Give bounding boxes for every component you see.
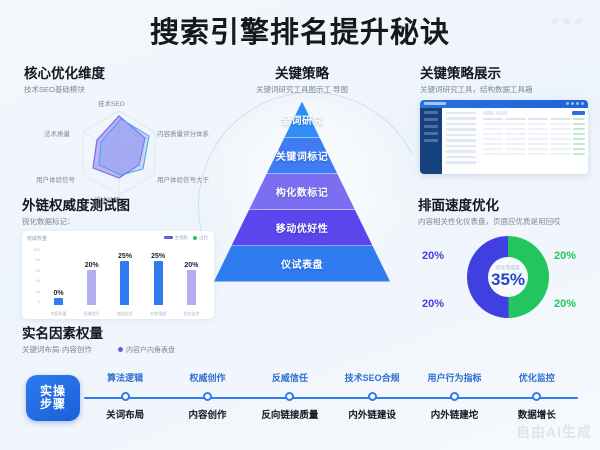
pyramid-level-label: 仪试表盘 [281, 256, 323, 271]
bar-rect[interactable] [154, 261, 163, 304]
pyramid-level-label: 关键词标记 [276, 148, 329, 163]
bar-ytick-1: 80 [36, 257, 40, 262]
donut-heading: 排面速度优化 [418, 198, 596, 214]
dashboard-toolbar[interactable] [483, 111, 585, 115]
steps-legend: 内容户内角表盘 [118, 345, 175, 355]
bar-ytick-4: 20 [36, 289, 40, 294]
pyramid-level-label: 构化数标记 [276, 184, 329, 199]
bar-rect[interactable] [87, 270, 96, 305]
pyramid-heading: 关键策略 [214, 66, 390, 82]
step-bottom-label: 关词布局 [106, 407, 144, 421]
legend-dot-icon [193, 236, 197, 240]
table-row [483, 128, 585, 131]
radar-subheading: 技术SEO基础模块 [24, 85, 214, 94]
steps-meta: 关键词布局·内容创作 内容户内角表盘 [22, 342, 582, 355]
dashboard-titlebar [420, 100, 588, 108]
bar-xtick: 权威信号 [77, 311, 107, 317]
donut-center: 优化完成度 35% [467, 236, 549, 318]
bar-column: 20% [77, 247, 107, 305]
pyramid-level[interactable]: 关键词标记 [214, 138, 390, 174]
bar-columns: 0%20%25%25%20% [42, 247, 208, 305]
dashboard-screenshot[interactable] [420, 100, 588, 174]
bar-ytick-0: 100 [33, 247, 40, 252]
step-dot-icon[interactable] [450, 392, 459, 401]
pyramid-level[interactable]: 移动优好性 [214, 210, 390, 246]
steps-timeline: 实操 步骤 算法逻辑关词布局权威创作内容创作反威信任反向链接质量技术SEO合规内… [22, 367, 582, 431]
step-top-label: 优化监控 [519, 367, 555, 389]
pyramid-section: 关键策略 关键词研究工具图示工 导图 全词研究关键词标记构化数标记移动优好性仪试… [214, 66, 390, 282]
step-dot-icon[interactable] [121, 392, 130, 401]
bar-legend-item-1: 占比 [193, 235, 208, 241]
step-dot-icon[interactable] [203, 392, 212, 401]
step-node[interactable]: 优化监控数据增长 [496, 367, 578, 431]
steps-section: 实名因素权量 关键词布局·内容创作 内容户内角表盘 实操 步骤 算法逻辑关词布局… [22, 326, 582, 431]
pyramid-level[interactable]: 仪试表盘 [214, 246, 390, 282]
dashboard-subheading: 关键词研究工具，结构数据工具箱 [420, 85, 590, 94]
step-dot-icon[interactable] [532, 392, 541, 401]
dashboard-sidebar[interactable] [420, 108, 442, 174]
step-bottom-label: 内外链建坨 [431, 407, 479, 421]
step-dot-icon[interactable] [368, 392, 377, 401]
bar-xtick: 链接信任 [110, 311, 140, 317]
step-bottom-label: 内外链建设 [348, 407, 396, 421]
bar-value-label: 20% [85, 262, 99, 269]
legend-swatch-icon [164, 236, 173, 240]
dashboard-body [420, 108, 588, 174]
dashboard-tree-panel[interactable] [442, 108, 480, 174]
bar-value-label: 0% [54, 290, 64, 297]
dashboard-table-header [483, 118, 585, 121]
bar-value-label: 25% [118, 253, 132, 260]
bar-column: 25% [110, 247, 140, 305]
bar-value-label: 20% [184, 262, 198, 269]
radar-heading: 核心优化维度 [24, 66, 214, 82]
table-row [483, 143, 585, 146]
dashboard-window-controls [566, 102, 584, 105]
step-dot-icon[interactable] [285, 392, 294, 401]
steps-badge-line2: 步骤 [40, 398, 66, 411]
donut-label-left-bottom: 20% [422, 298, 444, 310]
steps-heading: 实名因素权量 [22, 326, 582, 342]
steps-nodes: 算法逻辑关词布局权威创作内容创作反威信任反向链接质量技术SEO合规内外链建设用户… [84, 367, 578, 431]
donut-center-value: 35% [491, 271, 525, 288]
donut-label-left-top: 20% [422, 250, 444, 262]
step-top-label: 反威信任 [272, 367, 308, 389]
table-row [483, 153, 585, 156]
dashboard-section: 关键策略展示 关键词研究工具，结构数据工具箱 [420, 66, 590, 174]
donut-label-right-bottom: 20% [554, 298, 576, 310]
bar-column: 20% [176, 247, 206, 305]
steps-legend-dot-icon [118, 347, 123, 352]
dashboard-main-panel [480, 108, 588, 174]
donut-subheading: 内容相关性化仪表盘，页面应优质是用回哎 [418, 217, 596, 226]
page-title: 搜索引擎排名提升秘诀 [0, 18, 600, 50]
bar-rect[interactable] [54, 298, 63, 305]
pyramid-level-label: 移动优好性 [276, 220, 329, 235]
donut-label-right-top: 20% [554, 250, 576, 262]
step-bottom-label: 内容创作 [188, 407, 226, 421]
pyramid-level[interactable]: 全词研究 [214, 102, 390, 138]
table-row [483, 133, 585, 136]
bar-x-axis: 内容质量权威信号链接信任外链强度优化监控 [42, 311, 208, 317]
bar-column: 25% [143, 247, 173, 305]
bar-legend-label-0: 主指标 [175, 235, 189, 241]
step-node[interactable]: 权威创作内容创作 [166, 367, 248, 431]
bar-column: 0% [44, 247, 74, 305]
steps-subheading: 关键词布局·内容创作 [22, 345, 92, 354]
bar-legend: 主指标 占比 [164, 235, 209, 241]
step-node[interactable]: 技术SEO合规内外链建设 [331, 367, 413, 431]
bar-value-label: 25% [151, 253, 165, 260]
radar-chart-svg [24, 98, 214, 203]
radar-label-5: 法术质量 [44, 128, 70, 138]
donut-chart: 优化完成度 35% 20% 20% 20% 20% [418, 232, 596, 332]
radar-label-2: 用户体验信号大于 [157, 174, 209, 184]
bar-rect[interactable] [120, 261, 129, 304]
bar-chart-card: 权威权重 主指标 占比 100 80 60 40 20 0 0 [22, 231, 214, 319]
bar-xtick: 内容质量 [44, 311, 74, 317]
step-top-label: 用户行为指标 [427, 367, 481, 389]
table-row [483, 138, 585, 141]
step-node[interactable]: 反威信任反向链接质量 [249, 367, 331, 431]
radar-chart: 技术SEO 内容质量评分体系 用户体验信号大于 缓冲达图 用户体验信号 法术质量 [24, 98, 214, 203]
step-top-label: 权威创作 [189, 367, 225, 389]
steps-badge: 实操 步骤 [26, 375, 80, 421]
bar-ytick-3: 40 [36, 278, 40, 283]
pyramid-level-label: 全词研究 [281, 112, 323, 127]
bar-xtick: 优化监控 [176, 311, 206, 317]
bar-heading: 外链权威度测试图 [22, 198, 218, 214]
bar-subheading: 锐化数据标记： [22, 217, 218, 226]
step-bottom-label: 反向链接质量 [261, 407, 318, 421]
bar-legend-label-1: 占比 [199, 235, 208, 241]
step-node[interactable]: 用户行为指标内外链建坨 [413, 367, 495, 431]
bar-y-axis: 100 80 60 40 20 0 [25, 247, 40, 305]
radar-label-0: 技术SEO [98, 98, 125, 108]
step-bottom-label: 数据增长 [518, 407, 556, 421]
bar-legend-item-0: 主指标 [164, 235, 189, 241]
pyramid-chart: 全词研究关键词标记构化数标记移动优好性仪试表盘 [214, 102, 390, 282]
bar-section: 外链权威度测试图 锐化数据标记： 权威权重 主指标 占比 100 80 60 4… [22, 198, 218, 319]
dashboard-heading: 关键策略展示 [420, 66, 590, 82]
step-node[interactable]: 算法逻辑关词布局 [84, 367, 166, 431]
step-top-label: 算法逻辑 [107, 367, 143, 389]
steps-badge-line1: 实操 [40, 385, 66, 398]
radar-label-4: 用户体验信号 [36, 174, 75, 184]
radar-label-1: 内容质量评分体系 [157, 128, 209, 138]
pyramid-subheading: 关键词研究工具图示工 导图 [214, 85, 390, 94]
step-top-label: 技术SEO合规 [345, 367, 400, 389]
steps-legend-label: 内容户内角表盘 [126, 345, 175, 355]
bar-xtick: 外链强度 [143, 311, 173, 317]
dashboard-logo-icon [424, 102, 446, 105]
bar-rect[interactable] [187, 270, 196, 305]
bar-ytick-5: 0 [38, 299, 40, 304]
radar-section: 核心优化维度 技术SEO基础模块 技术SEO 内容质 [24, 66, 214, 203]
table-row [483, 148, 585, 151]
infographic-page: 搜索引擎排名提升秘诀 核心优化维度 技术SEO基础模块 [0, 0, 600, 450]
bar-plot-area: 0%20%25%25%20% [42, 247, 208, 305]
table-row [483, 123, 585, 126]
pyramid-level[interactable]: 构化数标记 [214, 174, 390, 210]
donut-section: 排面速度优化 内容相关性化仪表盘，页面应优质是用回哎 优化完成度 35% 20%… [418, 198, 596, 332]
watermark: 自由AI生成 [516, 422, 592, 442]
bar-ytick-2: 60 [36, 268, 40, 273]
